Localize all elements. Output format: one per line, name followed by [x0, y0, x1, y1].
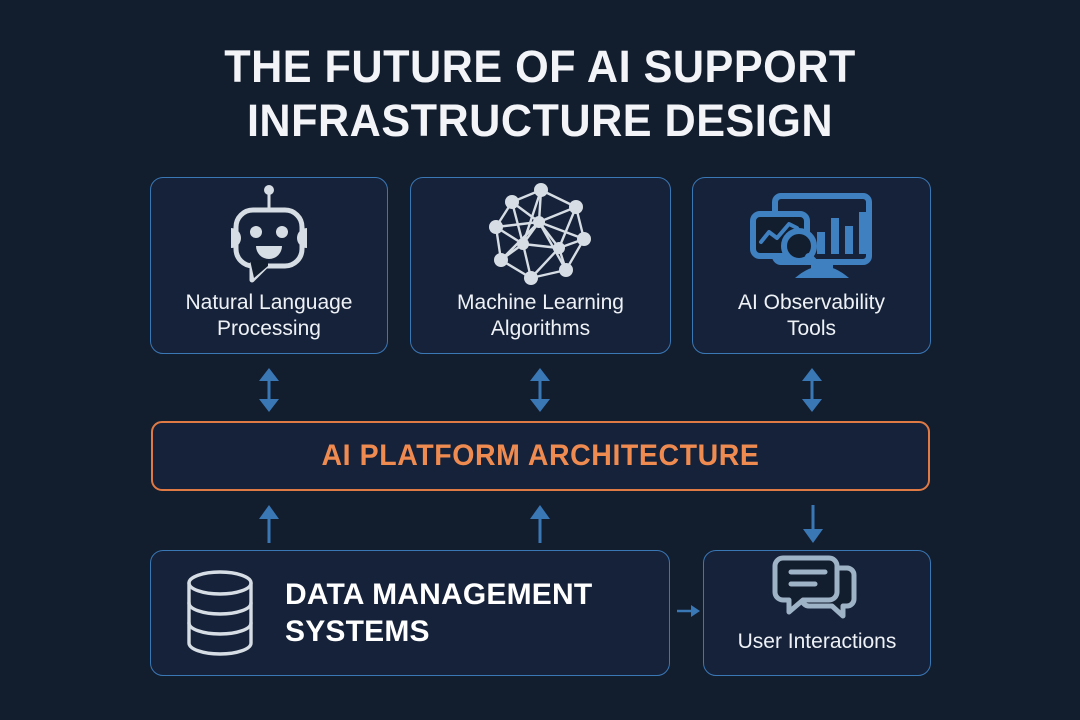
- connector-platform-to-users: [796, 503, 830, 545]
- robot-icon: [151, 178, 387, 290]
- card-user-interactions[interactable]: User Interactions: [703, 550, 931, 676]
- page-title: THE FUTURE OF AI SUPPORT INFRASTRUCTURE …: [0, 40, 1080, 148]
- ai-platform-architecture-label: AI PLATFORM ARCHITECTURE: [322, 439, 760, 473]
- card-label-nlp: Natural Language Processing: [151, 290, 387, 342]
- connector-data-to-platform-left: [252, 503, 286, 545]
- diagram-canvas: THE FUTURE OF AI SUPPORT INFRASTRUCTURE …: [0, 0, 1080, 720]
- card-machine-learning-algorithms[interactable]: Machine Learning Algorithms: [410, 177, 671, 354]
- card-natural-language-processing[interactable]: Natural Language Processing: [150, 177, 388, 354]
- page-title-line-1: THE FUTURE OF AI SUPPORT: [22, 40, 1059, 94]
- connector-nlp-to-platform: [252, 366, 286, 414]
- card-label-ml-line-1: Machine Learning: [457, 291, 624, 314]
- card-label-observability-line-2: Tools: [787, 317, 836, 340]
- connector-ml-to-platform: [523, 366, 557, 414]
- card-label-observability-line-1: AI Observability: [738, 291, 885, 314]
- neural-network-icon: [411, 178, 670, 290]
- card-label-ml-line-2: Algorithms: [491, 317, 590, 340]
- card-label-user-interactions: User Interactions: [704, 629, 930, 655]
- card-label-data-management-line-2: SYSTEMS: [285, 615, 430, 648]
- card-label-nlp-line-2: Processing: [217, 317, 321, 340]
- connector-data-to-users: [676, 596, 702, 626]
- card-label-nlp-line-1: Natural Language: [186, 291, 353, 314]
- observability-monitor-icon: [693, 178, 930, 290]
- card-data-management-systems[interactable]: DATA MANAGEMENT SYSTEMS: [150, 550, 670, 676]
- card-label-data-management-line-1: DATA MANAGEMENT: [285, 578, 592, 611]
- card-ai-observability-tools[interactable]: AI Observability Tools: [692, 177, 931, 354]
- database-icon: [179, 567, 261, 659]
- connector-observability-to-platform: [795, 366, 829, 414]
- page-title-line-2: INFRASTRUCTURE DESIGN: [22, 94, 1059, 148]
- card-label-ml: Machine Learning Algorithms: [411, 290, 670, 342]
- card-label-data-management: DATA MANAGEMENT SYSTEMS: [285, 576, 592, 650]
- chat-bubbles-icon: [704, 551, 930, 629]
- ai-platform-architecture-bar[interactable]: AI PLATFORM ARCHITECTURE: [151, 421, 930, 491]
- card-label-observability: AI Observability Tools: [693, 290, 930, 342]
- connector-data-to-platform-center: [523, 503, 557, 545]
